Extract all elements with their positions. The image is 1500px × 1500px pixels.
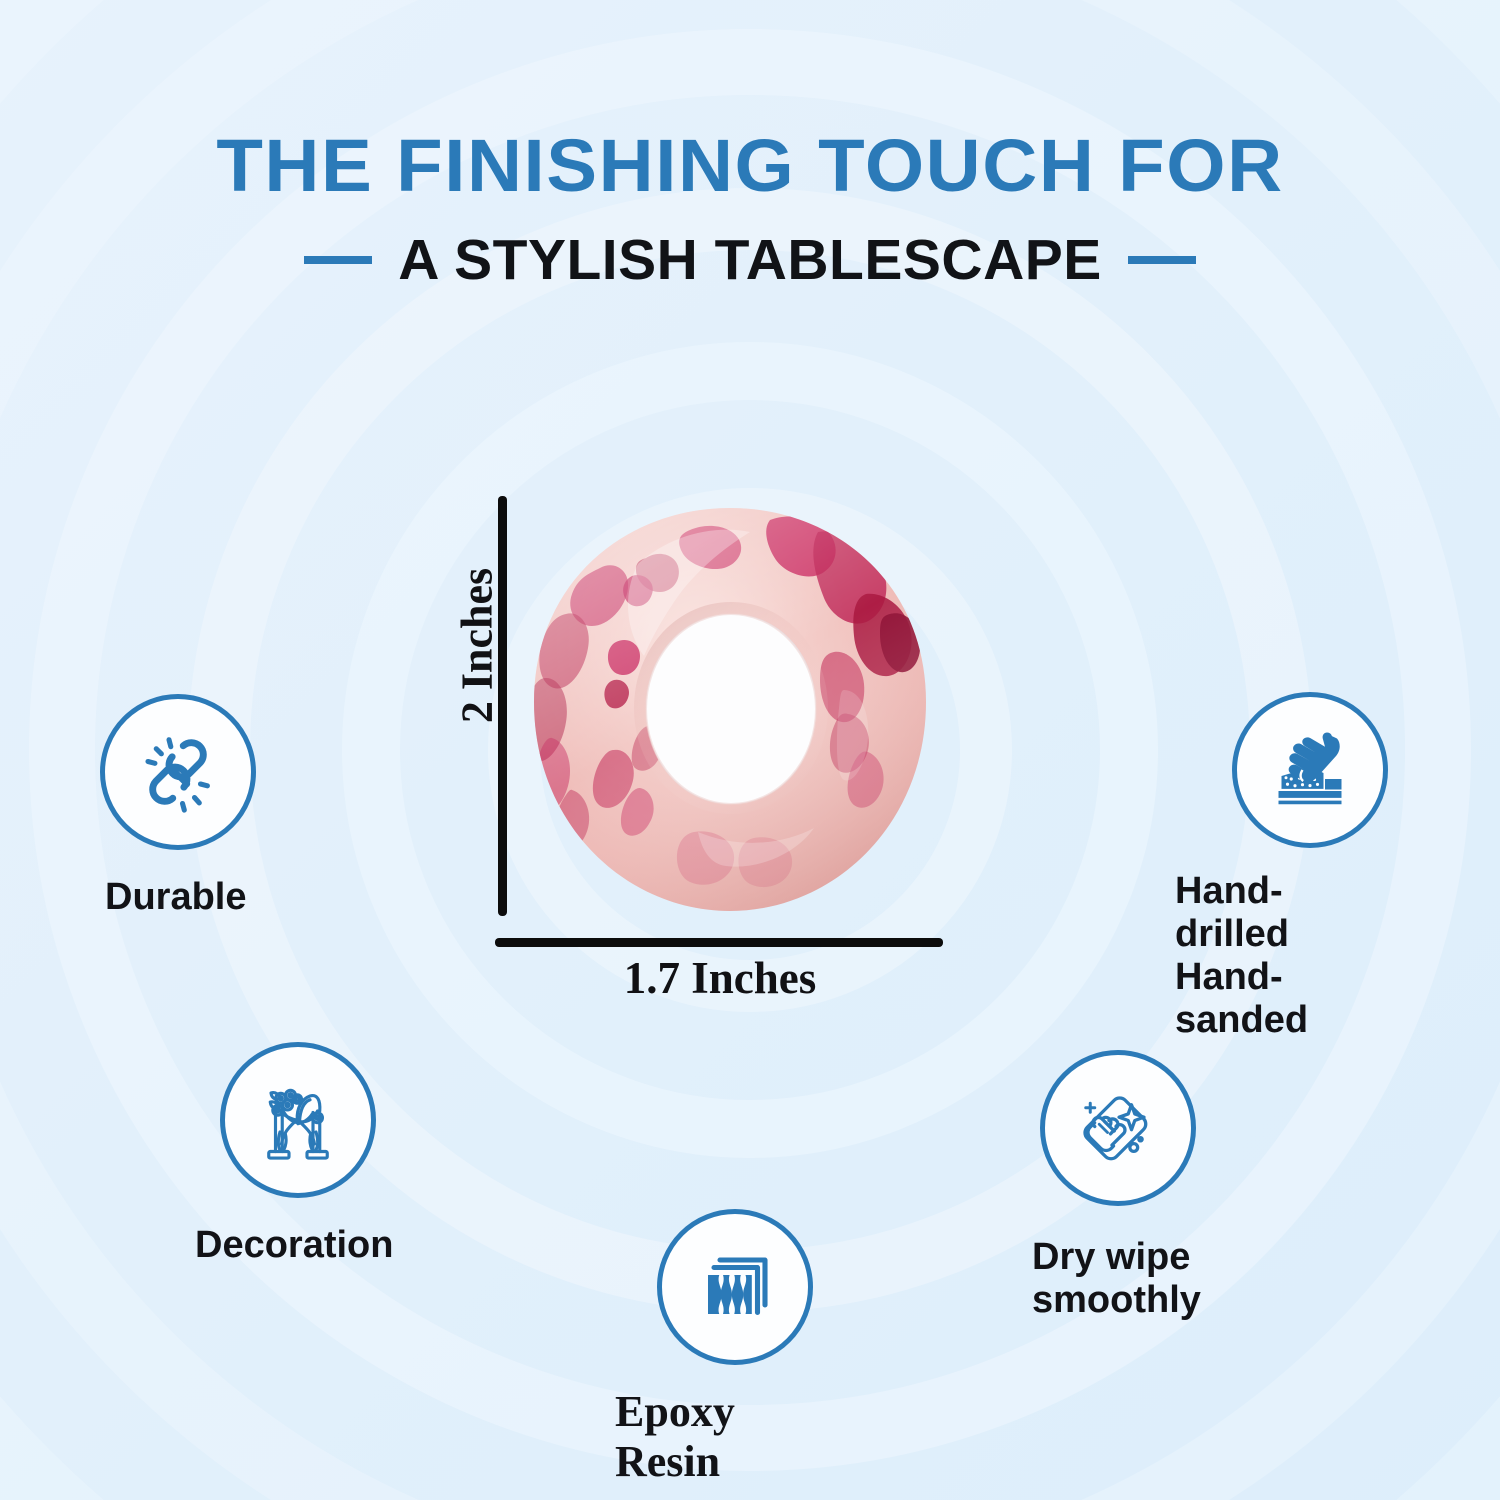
dash-right-icon — [1128, 256, 1196, 264]
product-photo-napkin-ring — [518, 502, 943, 917]
feature-label-epoxy-resin: Epoxy Resin — [615, 1387, 735, 1486]
product-dimension-block: 2 Inches 1.7 Inches — [440, 470, 980, 1010]
resin-sheets-icon — [687, 1239, 783, 1335]
wedding-arch-icon — [250, 1072, 346, 1168]
feature-label-decoration: Decoration — [195, 1224, 393, 1267]
chain-link-icon — [130, 724, 226, 820]
dimension-line-horizontal — [495, 938, 943, 947]
feature-icon-circle — [1040, 1050, 1196, 1206]
feature-icon-circle — [1232, 692, 1388, 848]
dimension-label-height: 2 Inches — [452, 546, 503, 746]
feature-label-hand-drilled-sanded: Hand-drilled Hand-sanded — [1175, 870, 1308, 1042]
hand-wipe-cloth-icon — [1070, 1080, 1166, 1176]
headline-primary: THE FINISHING TOUCH FOR — [0, 128, 1500, 205]
dash-left-icon — [304, 256, 372, 264]
infographic-canvas: THE FINISHING TOUCH FOR A STYLISH TABLES… — [0, 0, 1500, 1500]
feature-label-durable: Durable — [105, 876, 246, 919]
dimension-label-width: 1.7 Inches — [480, 952, 960, 1004]
headline-block: THE FINISHING TOUCH FOR A STYLISH TABLES… — [0, 128, 1500, 293]
feature-icon-circle — [657, 1209, 813, 1365]
hand-sanding-icon — [1262, 722, 1358, 818]
feature-icon-circle — [100, 694, 256, 850]
feature-label-dry-wipe: Dry wipe smoothly — [1032, 1236, 1201, 1322]
headline-subtitle-row: A STYLISH TABLESCAPE — [0, 227, 1500, 293]
headline-subtitle: A STYLISH TABLESCAPE — [398, 227, 1102, 293]
feature-icon-circle — [220, 1042, 376, 1198]
